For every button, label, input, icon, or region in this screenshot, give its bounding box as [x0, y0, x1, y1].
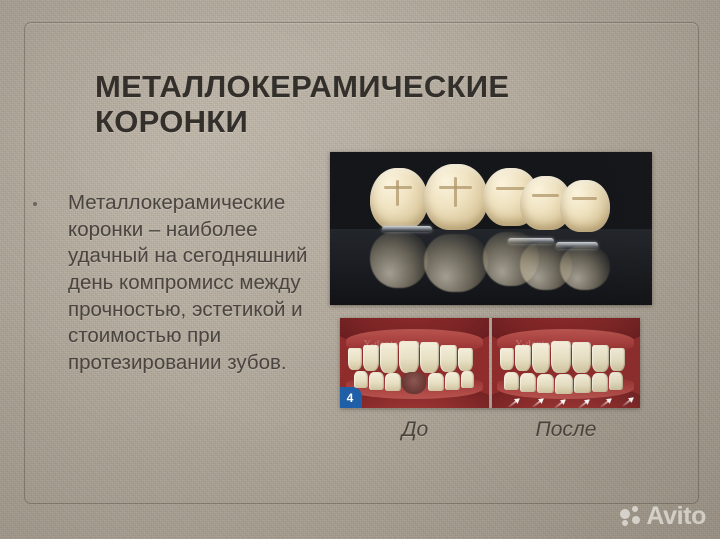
caption-before: До — [340, 418, 490, 442]
avito-watermark: Avito — [620, 504, 706, 529]
photo-captions: До После — [340, 418, 642, 442]
slide-title: МЕТАЛЛОКЕРАМИЧЕСКИЕ КОРОНКИ — [95, 70, 615, 139]
bullet-item-text: Металлокерамические коронки – наиболее у… — [68, 190, 325, 376]
crown-reflection — [424, 234, 488, 292]
avito-brand-text: Avito — [646, 504, 706, 529]
crown-reflection — [560, 246, 610, 290]
avito-dots-logo — [620, 506, 641, 527]
caption-after: После — [490, 418, 642, 442]
after-photo: Y-dentaria.ru — [492, 318, 641, 408]
crown-reflection — [370, 232, 428, 288]
bullet-marker-icon — [33, 202, 37, 206]
presentation-slide: МЕТАЛЛОКЕРАМИЧЕСКИЕ КОРОНКИ Металлокерам… — [0, 0, 720, 539]
photo-number-badge: 4 — [340, 387, 362, 408]
crown-tooth — [560, 180, 610, 232]
crown-tooth — [370, 168, 428, 230]
before-photo: Y-dentaria.ru 4 — [340, 318, 489, 408]
before-after-photo-pair: Y-dentaria.ru 4 Y-dentaria.ru — [340, 318, 640, 408]
metal-framework — [382, 226, 432, 232]
missing-tooth-gap — [402, 372, 426, 394]
crown-tooth — [424, 164, 488, 230]
metal-ceramic-bridge-photo — [330, 152, 652, 305]
bullet-list-item: Металлокерамические коронки – наиболее у… — [33, 190, 325, 376]
